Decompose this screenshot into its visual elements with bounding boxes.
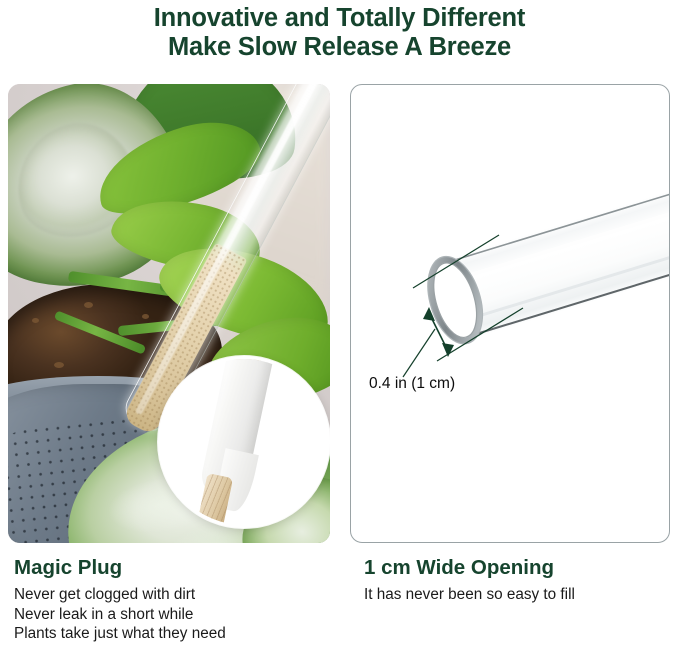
wooden-stick-grain <box>195 473 233 528</box>
headline-line-1: Innovative and Totally Different <box>0 4 679 33</box>
caption-magic-plug: Magic Plug Never get clogged with dirt N… <box>14 556 334 644</box>
dimension-label: 0.4 in (1 cm) <box>369 375 455 393</box>
caption-wide-opening: 1 cm Wide Opening It has never been so e… <box>364 556 674 605</box>
caption-line: Plants take just what they need <box>14 624 334 644</box>
caption-line: Never get clogged with dirt <box>14 585 334 605</box>
caption-line: Never leak in a short while <box>14 605 334 625</box>
headline-line-2: Make Slow Release A Breeze <box>0 33 679 62</box>
tube-diagram-graphic <box>351 85 670 543</box>
caption-title: 1 cm Wide Opening <box>364 556 674 580</box>
captions-row: Magic Plug Never get clogged with dirt N… <box>0 556 679 661</box>
magic-plug-closeup <box>158 356 330 528</box>
tube-opening-diagram: 0.4 in (1 cm) <box>350 84 670 543</box>
page-title: Innovative and Totally Different Make Sl… <box>0 4 679 62</box>
plant-watering-photo <box>8 84 330 543</box>
panels-row: 0.4 in (1 cm) <box>0 84 679 544</box>
caption-line: It has never been so easy to fill <box>364 585 674 605</box>
caption-title: Magic Plug <box>14 556 334 580</box>
